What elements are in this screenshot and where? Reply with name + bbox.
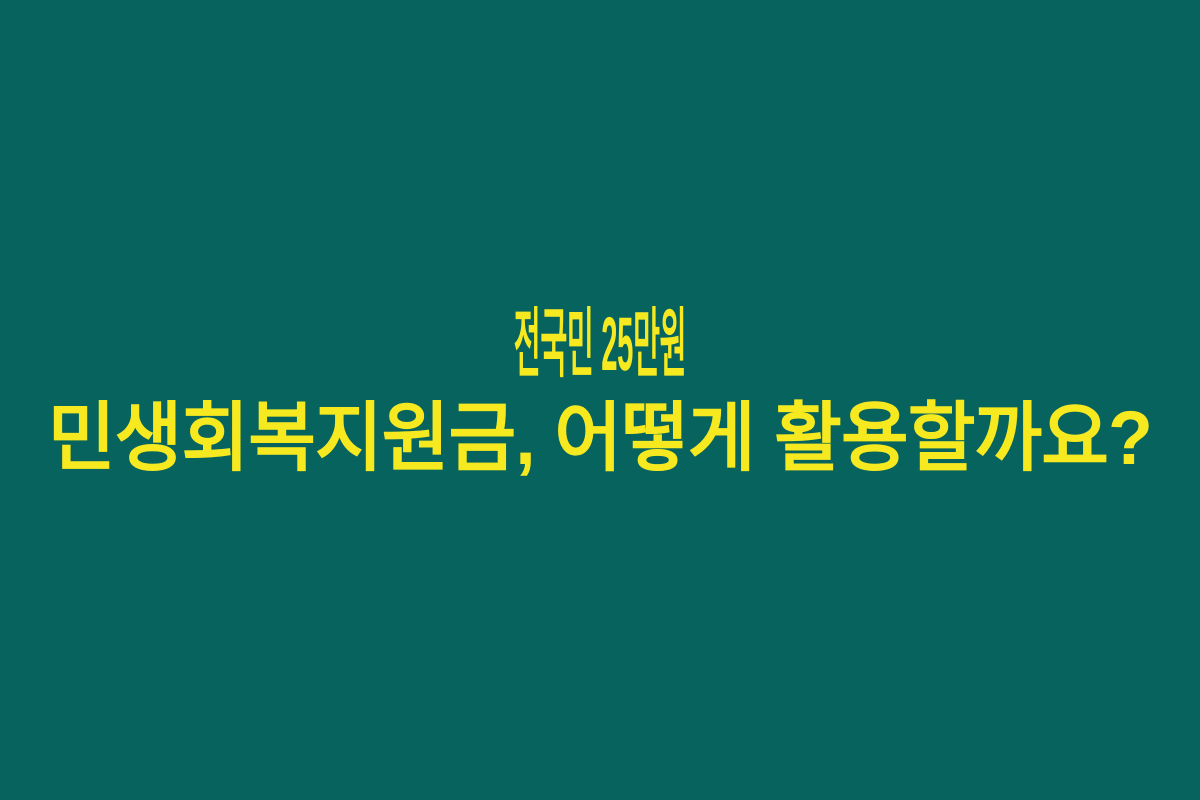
headline-line-1: 전국민 25만원 [369, 303, 831, 387]
headline-line-2: 민생회복지원금, 어떻게 활용할까요? [34, 397, 1166, 481]
headline-block: 전국민 25만원 민생회복지원금, 어떻게 활용할까요? [0, 303, 1200, 481]
banner-canvas: 전국민 25만원 민생회복지원금, 어떻게 활용할까요? [0, 0, 1200, 800]
